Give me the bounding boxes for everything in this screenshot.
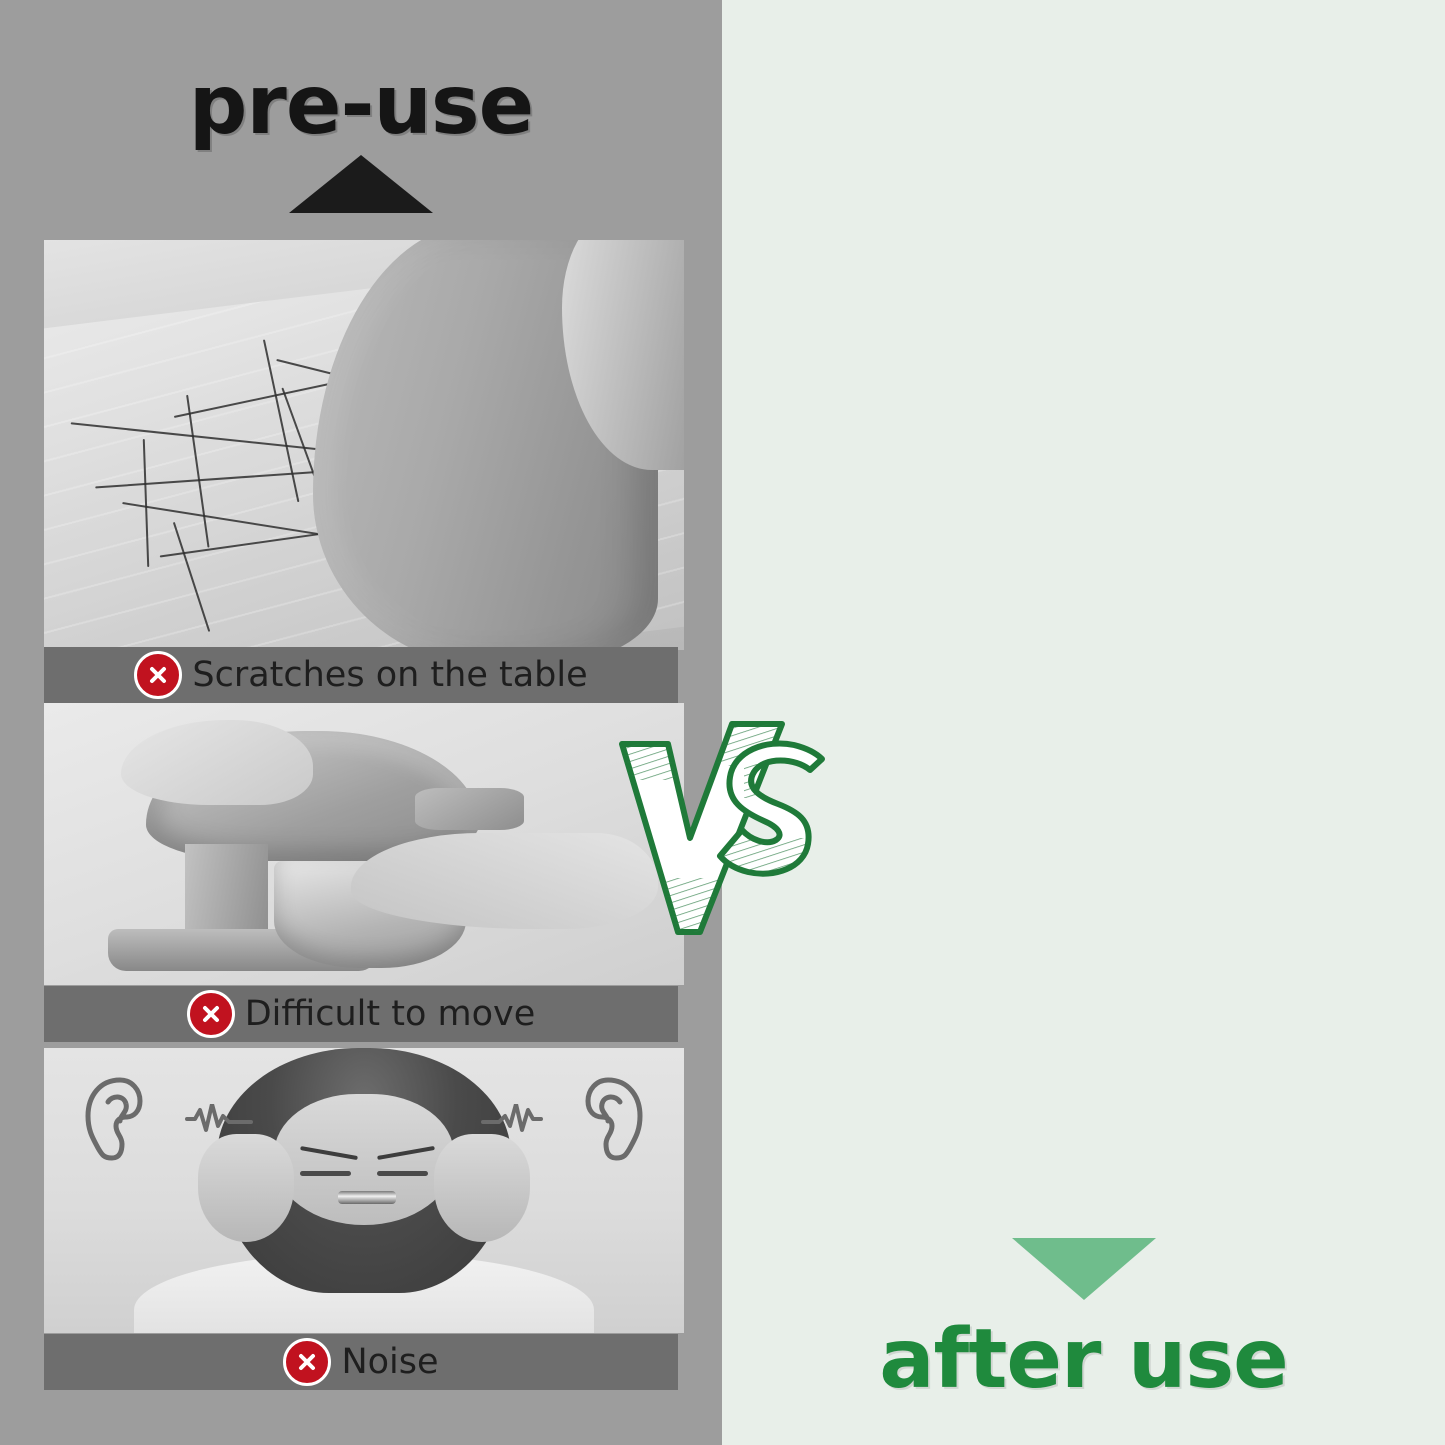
hand-left-ear xyxy=(198,1134,294,1242)
hand-on-top xyxy=(121,720,313,805)
ear-icon-right xyxy=(566,1072,652,1166)
pre-use-heading: pre-use xyxy=(0,58,722,153)
ear-icon-left xyxy=(76,1072,162,1166)
drawback-label-text: Scratches on the table xyxy=(192,655,587,695)
drawback-label-difficult: Difficult to move xyxy=(44,986,678,1042)
x-mark-icon xyxy=(187,990,235,1038)
mixer-neck xyxy=(415,788,524,830)
x-mark-icon xyxy=(134,651,182,699)
drawback-label-scratches: Scratches on the table xyxy=(44,647,678,703)
triangle-up-icon xyxy=(289,155,433,213)
face xyxy=(274,1094,453,1225)
mixer-column xyxy=(185,844,268,940)
drawback-label-noise: Noise xyxy=(44,1334,678,1390)
mouth xyxy=(338,1191,396,1204)
drawback-label-text: Difficult to move xyxy=(245,994,536,1034)
photo-moving-mixer xyxy=(44,703,684,985)
x-mark-icon xyxy=(283,1338,331,1386)
after-use-heading: after use xyxy=(722,1312,1445,1407)
drawback-label-text: Noise xyxy=(341,1342,438,1382)
photo-scratched-table xyxy=(44,240,684,650)
versus-badge-icon xyxy=(604,718,834,938)
photo-noise-woman xyxy=(44,1048,684,1333)
sound-wave-icon-left xyxy=(185,1104,259,1134)
triangle-down-icon xyxy=(1012,1238,1156,1300)
hand-right-ear xyxy=(434,1134,530,1242)
comparison-infographic: pre-use Scratches on the table xyxy=(0,0,1445,1445)
sound-wave-icon-right xyxy=(469,1104,543,1134)
